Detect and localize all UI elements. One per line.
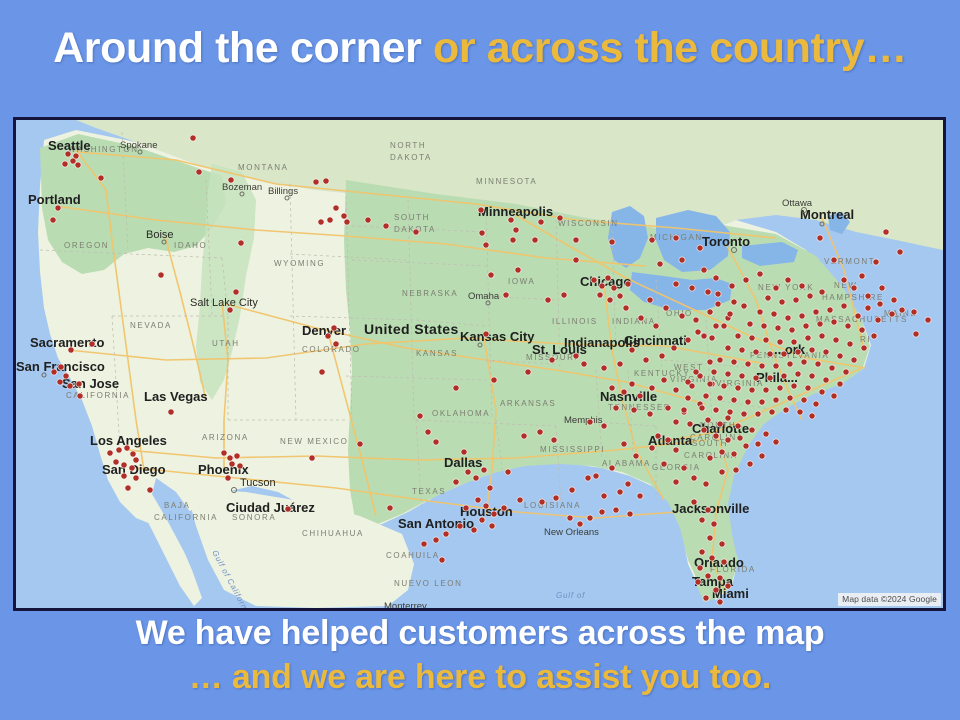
- label-indiana: INDIANA: [612, 317, 656, 326]
- map-graphic: United States WASHINGTON OREGON IDAHO MO…: [16, 120, 943, 608]
- label-utah: UTAH: [212, 339, 240, 348]
- label-city-seattle: Seattle: [48, 138, 91, 153]
- label-city-cincinnati: Cincinnati: [624, 333, 687, 348]
- label-new-hampshire-2: HAMPSHIRE: [822, 293, 884, 302]
- label-city-ciudad-juarez: Ciudad Juárez: [226, 500, 315, 515]
- slide-root: Around the corner or across the country…: [0, 0, 960, 720]
- label-city-denver: Denver: [302, 323, 346, 338]
- label-city-monterrey: Monterrey: [384, 601, 427, 608]
- label-city-toronto: Toronto: [702, 234, 750, 249]
- label-georgia: GEORGIA: [652, 463, 701, 472]
- label-city-philadelphia: Phila...: [756, 370, 798, 385]
- label-city-salt-lake-city: Salt Lake City: [190, 297, 258, 309]
- label-illinois: ILLINOIS: [552, 317, 598, 326]
- headline-gold-part: or across the country…: [433, 24, 907, 72]
- gulf-of-mexico: [402, 494, 676, 608]
- label-south-dakota: SOUTH: [394, 213, 430, 222]
- label-city-spokane: Spokane: [120, 140, 158, 151]
- label-city-dallas: Dallas: [444, 455, 482, 470]
- label-united-states: United States: [364, 321, 459, 337]
- label-city-omaha: Omaha: [468, 291, 500, 302]
- label-arizona: ARIZONA: [202, 433, 249, 442]
- footer-line-1: We have helped customers across the map: [0, 612, 960, 656]
- label-city-montreal: Montreal: [800, 207, 854, 222]
- label-north-dakota: NORTH: [390, 141, 426, 150]
- map-canvas[interactable]: United States WASHINGTON OREGON IDAHO MO…: [16, 120, 943, 608]
- label-south-carolina: SOUTH: [692, 439, 728, 448]
- label-chihuahua: CHIHUAHUA: [302, 529, 364, 538]
- label-baja-california: BAJA: [164, 501, 190, 510]
- label-arkansas: ARKANSAS: [500, 399, 556, 408]
- footer-text-block: We have helped customers across the map …: [0, 612, 960, 699]
- label-city-tucson: Tucson: [240, 477, 276, 489]
- label-city-minneapolis: Minneapolis: [478, 204, 553, 219]
- label-california: CALIFORNIA: [66, 391, 130, 400]
- label-new-mexico: NEW MEXICO: [280, 437, 348, 446]
- label-kansas: KANSAS: [416, 349, 458, 358]
- label-city-nashville: Nashville: [600, 389, 657, 404]
- map-attribution: Map data ©2024 Google: [838, 593, 941, 606]
- label-north-dakota-2: DAKOTA: [390, 153, 432, 162]
- label-wisconsin: WISCONSIN: [558, 219, 619, 228]
- map-container[interactable]: United States WASHINGTON OREGON IDAHO MO…: [13, 117, 946, 611]
- footer-line-2: … and we are here to assist you too.: [0, 656, 960, 700]
- label-city-memphis: Memphis: [564, 415, 603, 426]
- label-city-portland: Portland: [28, 192, 81, 207]
- page-title: Around the corner or across the country…: [0, 26, 960, 71]
- label-city-bozeman: Bozeman: [222, 182, 262, 193]
- label-colorado: COLORADO: [302, 345, 361, 354]
- label-oklahoma: OKLAHOMA: [432, 409, 490, 418]
- label-baja-california-2: CALIFORNIA: [154, 513, 218, 522]
- label-city-new-orleans: New Orleans: [544, 527, 599, 538]
- label-rhode-island: RI: [860, 335, 871, 344]
- label-city-boise: Boise: [146, 229, 174, 241]
- label-city-san-antonio: San Antonio: [398, 516, 474, 531]
- label-nevada: NEVADA: [130, 321, 172, 330]
- label-city-ottawa: Ottawa: [782, 198, 813, 209]
- label-city-kansas-city: Kansas City: [460, 329, 535, 344]
- label-city-billings: Billings: [268, 186, 298, 197]
- label-nebraska: NEBRASKA: [402, 289, 458, 298]
- label-iowa: IOWA: [508, 277, 535, 286]
- label-louisiana: LOUISIANA: [524, 501, 581, 510]
- label-idaho: IDAHO: [174, 241, 207, 250]
- label-minnesota: MINNESOTA: [476, 177, 537, 186]
- label-mississippi: MISSISSIPPI: [540, 445, 605, 454]
- label-nuevo-leon: NUEVO LEON: [394, 579, 462, 588]
- label-city-las-vegas: Las Vegas: [144, 389, 208, 404]
- label-oregon: OREGON: [64, 241, 109, 250]
- label-new-york-state: NEW YORK: [758, 283, 814, 292]
- label-gulf-of: Gulf of: [556, 591, 585, 600]
- label-wyoming: WYOMING: [274, 259, 325, 268]
- label-texas: TEXAS: [412, 487, 446, 496]
- headline-white-part: Around the corner: [53, 24, 433, 72]
- label-montana: MONTANA: [238, 163, 289, 172]
- label-coahuila: COAHUILA: [386, 551, 440, 560]
